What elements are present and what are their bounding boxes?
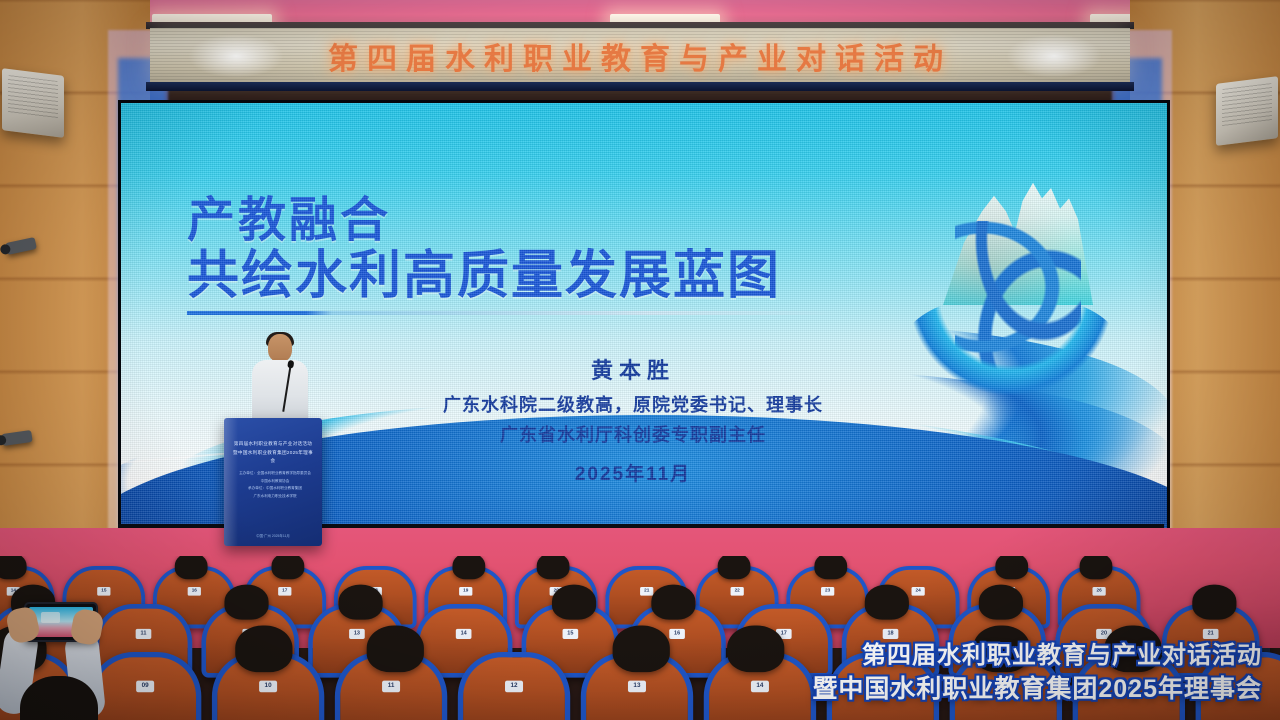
- audience-member-filming: [0, 580, 144, 720]
- speaker-grille-icon: [8, 75, 58, 119]
- seat-number: 14: [751, 681, 769, 693]
- seat-number: 17: [278, 587, 291, 596]
- seat-number: 10: [259, 681, 277, 693]
- audience-head: [1080, 556, 1113, 579]
- audience-seat: 14: [704, 652, 816, 720]
- audience-head: [613, 626, 670, 673]
- caption-line1: 第四届水利职业教育与产业对话活动: [812, 640, 1262, 672]
- presenter: [252, 334, 308, 426]
- seat-number: 24: [912, 587, 925, 596]
- audience-seat: 12: [458, 652, 570, 720]
- podium-title-line1: 第四届水利职业教育与产业对话活动: [232, 440, 314, 449]
- conference-hall-photo: 第四届水利职业教育与产业对话活动 产教融合 共绘水利高质量发展蓝图: [0, 0, 1280, 720]
- hand: [69, 608, 104, 647]
- audience-head: [651, 585, 695, 620]
- audience-head: [175, 556, 208, 579]
- caption-line2: 暨中国水利职业教育集团2025年理事会: [812, 673, 1262, 707]
- speaker-info-block: 黄本胜 广东水科院二级教高，原院党委书记、理事长 广东省水利厅科创委专职副主任 …: [353, 353, 913, 486]
- slide-title-line1: 产教融合: [187, 195, 847, 247]
- seat-number: 18: [883, 629, 899, 639]
- seat-number: 23: [821, 587, 834, 596]
- podium-title: 第四届水利职业教育与产业对话活动 暨中国水利职业教育集团2025年理事会: [232, 440, 314, 466]
- podium-organizers: 主办单位：全国水利职业教育教学指导委员会 中国水利教育协会 承办单位：中国水利职…: [238, 470, 312, 500]
- seat-number: 19: [459, 587, 472, 596]
- audience-head: [367, 626, 424, 673]
- slide-title-block: 产教融合 共绘水利高质量发展蓝图: [187, 195, 847, 315]
- banner-frame-bottom: [146, 82, 1134, 91]
- presenter-shirt: [252, 360, 308, 426]
- seat-number: 16: [669, 629, 685, 639]
- slide-title-line2: 共绘水利高质量发展蓝图: [187, 247, 847, 305]
- seat-number: 12: [505, 681, 523, 693]
- audience-seat: 10: [212, 652, 324, 720]
- audience-head: [452, 556, 485, 579]
- audience-head: [339, 585, 383, 620]
- seat-number: 21: [640, 587, 653, 596]
- speaker-grille-icon: [1222, 83, 1272, 127]
- seat-number: 22: [731, 587, 744, 596]
- audience-head: [537, 556, 570, 579]
- mountain-river-icon: [921, 175, 1111, 385]
- podium-footer: 中国·广州 2025年11月: [224, 533, 322, 538]
- presentation-date: 2025年11月: [353, 459, 913, 486]
- audience-head: [0, 556, 27, 579]
- motif-wave: [901, 293, 1121, 403]
- audience-head: [718, 556, 751, 579]
- caption-overlay: 第四届水利职业教育与产业对话活动 暨中国水利职业教育集团2025年理事会: [812, 640, 1262, 706]
- audience-head: [727, 626, 784, 673]
- title-underline: [187, 311, 847, 315]
- audience-head: [979, 585, 1023, 620]
- audience-head: [224, 585, 268, 620]
- audience-seat: 11: [335, 652, 447, 720]
- wall-speaker-left: [2, 68, 64, 138]
- audience-head: [865, 585, 909, 620]
- seat-number: 21: [1203, 629, 1219, 639]
- podium-body-line1: 主办单位：全国水利职业教育教学指导委员会: [238, 470, 312, 478]
- seat-number: 15: [563, 629, 579, 639]
- speaker-name: 黄本胜: [353, 353, 913, 385]
- seat-number: 11: [382, 681, 400, 693]
- audience-head: [272, 556, 305, 579]
- audience-head: [1192, 585, 1236, 620]
- audience-head: [814, 556, 847, 579]
- audience-head: [552, 585, 596, 620]
- podium-body-line3: 承办单位：中国水利职业教育集团: [238, 485, 312, 493]
- event-banner: 第四届水利职业教育与产业对话活动: [150, 28, 1130, 84]
- audience-head: [235, 626, 292, 673]
- audience-seat: 13: [581, 652, 693, 720]
- seat-number: 16: [188, 587, 201, 596]
- speaker-role-line1: 广东水科院二级教高，原院党委书记、理事长: [353, 391, 913, 417]
- podium-body-line2: 中国水利教育协会: [238, 478, 312, 486]
- seat-number: 26: [1092, 587, 1105, 596]
- audience-head: [995, 556, 1028, 579]
- seat-number: 13: [349, 629, 365, 639]
- podium-body-line4: 广东水利电力职业技术学院: [238, 493, 312, 501]
- seat-number: 14: [456, 629, 472, 639]
- podium: 第四届水利职业教育与产业对话活动 暨中国水利职业教育集团2025年理事会 主办单…: [224, 418, 322, 546]
- event-banner-text: 第四届水利职业教育与产业对话活动: [150, 28, 1130, 84]
- podium-title-line2: 暨中国水利职业教育集团2025年理事会: [232, 449, 314, 466]
- wall-speaker-right: [1216, 76, 1278, 146]
- seat-number: 13: [628, 681, 646, 693]
- speaker-role-line2: 广东省水利厅科创委专职副主任: [353, 421, 913, 447]
